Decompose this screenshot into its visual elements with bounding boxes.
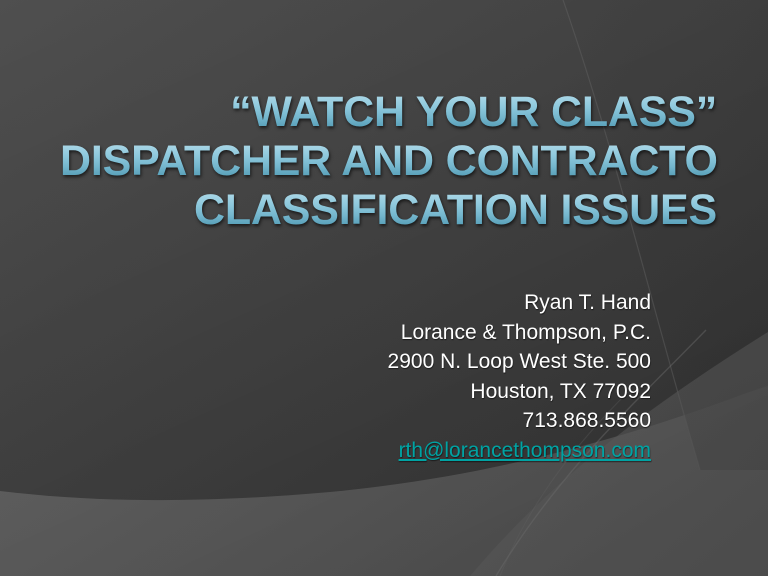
presentation-slide: “Watch Your Class” Dispatcher and Contra… [0, 0, 768, 576]
slide-title: “Watch Your Class” Dispatcher and Contra… [60, 88, 717, 235]
firm-name: Lorance & Thompson, P.C. [250, 318, 651, 348]
email-link[interactable]: rth@lorancethompson.com [250, 436, 651, 466]
title-line-3: Classification Issues [60, 186, 717, 235]
presenter-name: Ryan T. Hand [250, 288, 651, 318]
phone-number: 713.868.5560 [250, 406, 651, 436]
title-line-2: Dispatcher and Contractor [60, 137, 717, 186]
slide-subtitle-block: Ryan T. Hand Lorance & Thompson, P.C. 29… [250, 288, 651, 465]
city-state-zip: Houston, TX 77092 [250, 377, 651, 407]
street-address: 2900 N. Loop West Ste. 500 [250, 347, 651, 377]
title-line-1: “Watch Your Class” [60, 88, 717, 137]
